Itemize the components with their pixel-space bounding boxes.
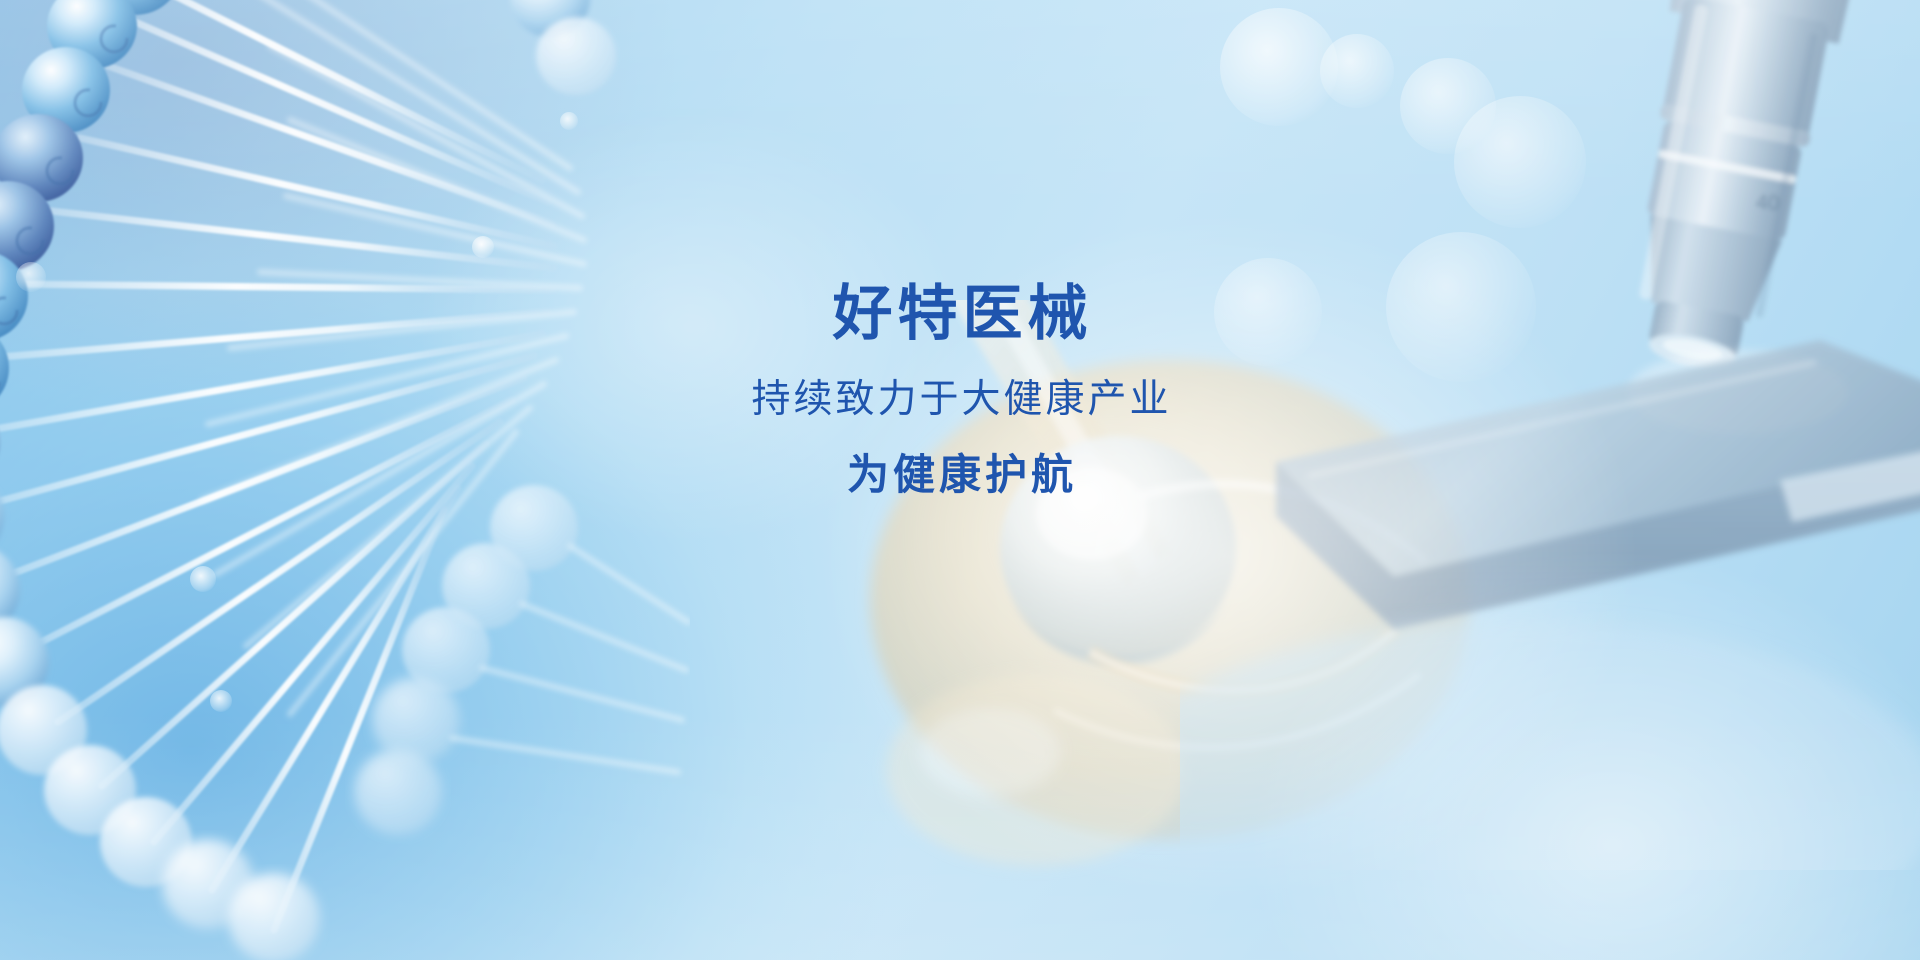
background-bloom [0,0,1920,960]
hero-banner: 40 [0,0,1920,960]
